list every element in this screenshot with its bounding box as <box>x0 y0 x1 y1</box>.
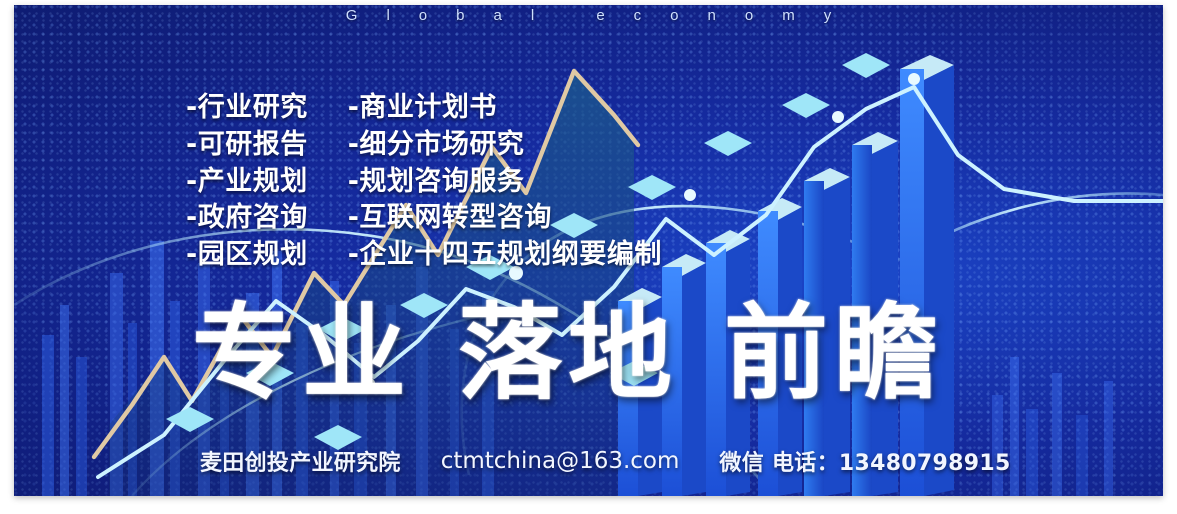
service-item: -产业规划 <box>186 165 308 200</box>
banner-frame: Global economy -行业研究 -可研报告 -产业规划 -政府咨询 -… <box>14 5 1163 496</box>
service-item: -商业计划书 <box>348 91 662 126</box>
service-item: -规划咨询服务 <box>348 165 662 200</box>
headline-word: 落地 <box>458 301 678 405</box>
service-item: -互联网转型咨询 <box>348 201 662 236</box>
contact-line: 麦田创投产业研究院 ctmtchina@163.com 微信 电话：134807… <box>200 445 1011 477</box>
service-item: -可研报告 <box>186 128 308 163</box>
services-right-column: -商业计划书 -细分市场研究 -规划咨询服务 -互联网转型咨询 -企业十四五规划… <box>348 91 662 273</box>
contact-phone: 微信 电话：13480798915 <box>719 445 1010 477</box>
bar-column <box>900 55 954 496</box>
service-item: -细分市场研究 <box>348 128 662 163</box>
headline-word: 前瞻 <box>724 301 944 405</box>
headline-word: 专业 <box>192 301 412 405</box>
organization-name: 麦田创投产业研究院 <box>200 445 401 477</box>
services-lists: -行业研究 -可研报告 -产业规划 -政府咨询 -园区规划 -商业计划书 -细分… <box>186 91 662 273</box>
service-item: -企业十四五规划纲要编制 <box>348 238 662 273</box>
service-item: -政府咨询 <box>186 201 308 236</box>
service-item: -行业研究 <box>186 91 308 126</box>
services-left-column: -行业研究 -可研报告 -产业规划 -政府咨询 -园区规划 <box>186 91 308 273</box>
global-economy-strip: Global economy <box>14 7 1163 24</box>
service-item: -园区规划 <box>186 238 308 273</box>
promo-banner: Global economy -行业研究 -可研报告 -产业规划 -政府咨询 -… <box>0 0 1177 514</box>
contact-email: ctmtchina@163.com <box>441 448 680 474</box>
bar-group <box>618 55 954 496</box>
headline: 专业 落地 前瞻 <box>192 301 944 405</box>
